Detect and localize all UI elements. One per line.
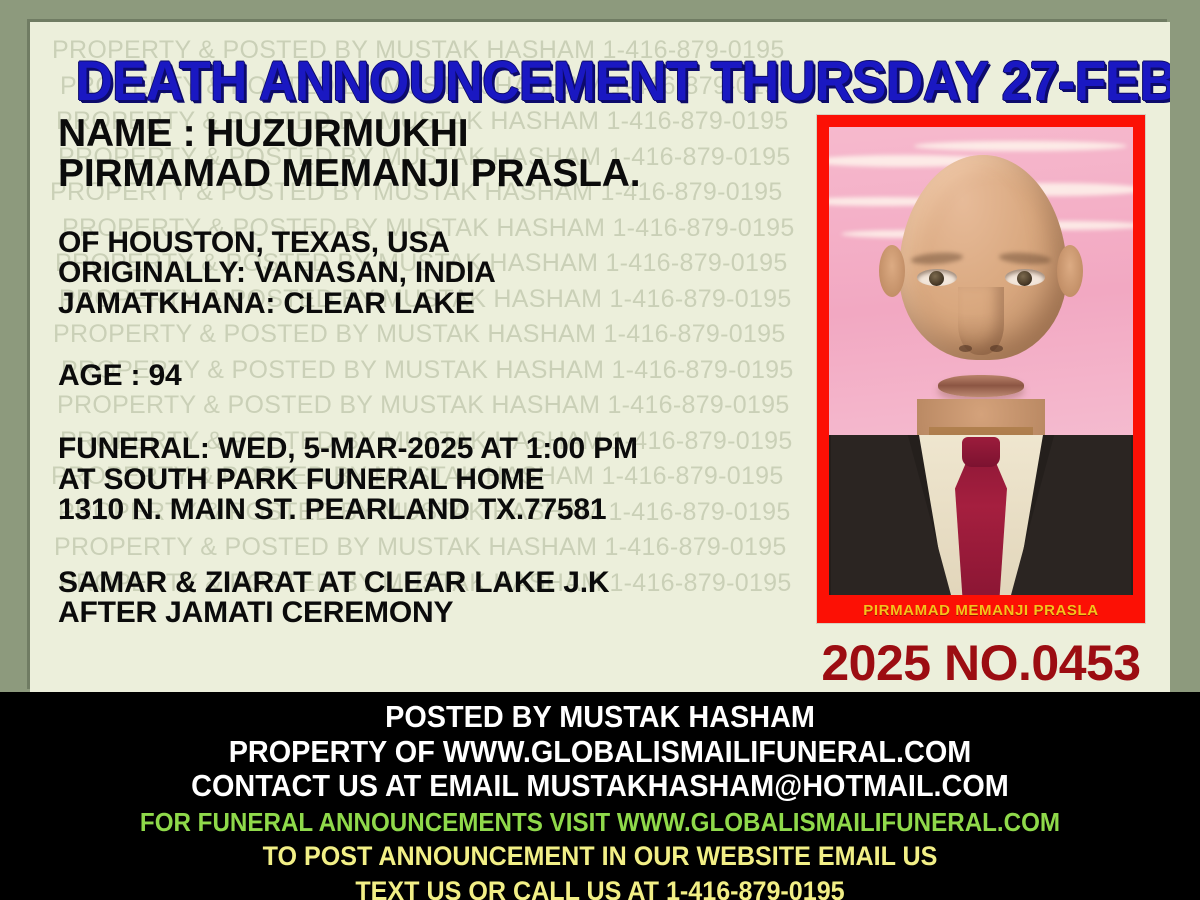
- name-block: NAME : HUZURMUKHI PIRMAMAD MEMANJI PRASL…: [58, 114, 828, 194]
- funeral-line-2: AT SOUTH PARK FUNERAL HOME: [58, 465, 828, 496]
- death-announcement-poster: PROPERTY & POSTED BY MUSTAK HASHAM 1-416…: [0, 0, 1200, 900]
- origin-block: OF HOUSTON, TEXAS, USA ORIGINALLY: VANAS…: [58, 228, 828, 320]
- footer-line-contact: CONTACT US AT EMAIL MUSTAKHASHAM@HOTMAIL…: [42, 769, 1158, 804]
- spacer: [58, 194, 828, 228]
- ear-right: [1057, 245, 1083, 297]
- page-title: DEATH ANNOUNCEMENT THURSDAY 27-FEB-2025: [76, 48, 1125, 113]
- iris-right: [1017, 271, 1032, 286]
- footer-line-posted-by: POSTED BY MUSTAK HASHAM: [42, 700, 1158, 735]
- funeral-line-1: FUNERAL: WED, 5-MAR-2025 AT 1:00 PM: [58, 434, 828, 465]
- origin-line-1: OF HOUSTON, TEXAS, USA: [58, 228, 828, 259]
- footer-band: POSTED BY MUSTAK HASHAM PROPERTY OF WWW.…: [0, 692, 1200, 900]
- age-block: AGE : 94: [58, 361, 828, 392]
- announcement-card: PROPERTY & POSTED BY MUSTAK HASHAM 1-416…: [30, 22, 1170, 692]
- portrait-frame: PIRMAMAD MEMANJI PRASLA: [816, 114, 1146, 624]
- cloud-streak-icon: [914, 141, 1127, 151]
- nostril-right: [990, 345, 1003, 352]
- age-line: AGE : 94: [58, 361, 828, 392]
- mouth-shape: [938, 375, 1024, 397]
- portrait-photo: [829, 127, 1133, 595]
- footer-line-property-of: PROPERTY OF WWW.GLOBALISMAILIFUNERAL.COM: [42, 735, 1158, 770]
- nostril-left: [959, 345, 972, 352]
- ceremony-line-1: SAMAR & ZIARAT AT CLEAR LAKE J.K: [58, 568, 828, 599]
- name-line-1: NAME : HUZURMUKHI: [58, 114, 828, 154]
- spacer: [58, 526, 828, 568]
- ceremony-block: SAMAR & ZIARAT AT CLEAR LAKE J.K AFTER J…: [58, 568, 828, 629]
- eye-left: [917, 269, 957, 286]
- spacer: [58, 319, 828, 361]
- funeral-block: FUNERAL: WED, 5-MAR-2025 AT 1:00 PM AT S…: [58, 434, 828, 526]
- name-line-2: PIRMAMAD MEMANJI PRASLA.: [58, 154, 828, 194]
- footer-line-visit-site: FOR FUNERAL ANNOUNCEMENTS VISIT WWW.GLOB…: [42, 808, 1158, 837]
- footer-line-post-email: TO POST ANNOUNCEMENT IN OUR WEBSITE EMAI…: [42, 841, 1158, 871]
- iris-left: [929, 271, 944, 286]
- funeral-line-3: 1310 N. MAIN ST. PEARLAND TX.77581: [58, 495, 828, 526]
- ceremony-line-2: AFTER JAMATI CEREMONY: [58, 598, 828, 629]
- reference-number: 2025 NO.0453: [816, 634, 1146, 692]
- footer-line-phone: TEXT US OR CALL US AT 1-416-879-0195: [42, 876, 1158, 900]
- origin-line-3: JAMATKHANA: CLEAR LAKE: [58, 289, 828, 320]
- necktie-knot: [962, 437, 1000, 467]
- origin-line-2: ORIGINALLY: VANASAN, INDIA: [58, 258, 828, 289]
- spacer: [58, 392, 828, 434]
- ear-left: [879, 245, 905, 297]
- eye-right: [1005, 269, 1045, 286]
- portrait-caption: PIRMAMAD MEMANJI PRASLA: [817, 602, 1145, 619]
- announcement-body: NAME : HUZURMUKHI PIRMAMAD MEMANJI PRASL…: [58, 114, 828, 629]
